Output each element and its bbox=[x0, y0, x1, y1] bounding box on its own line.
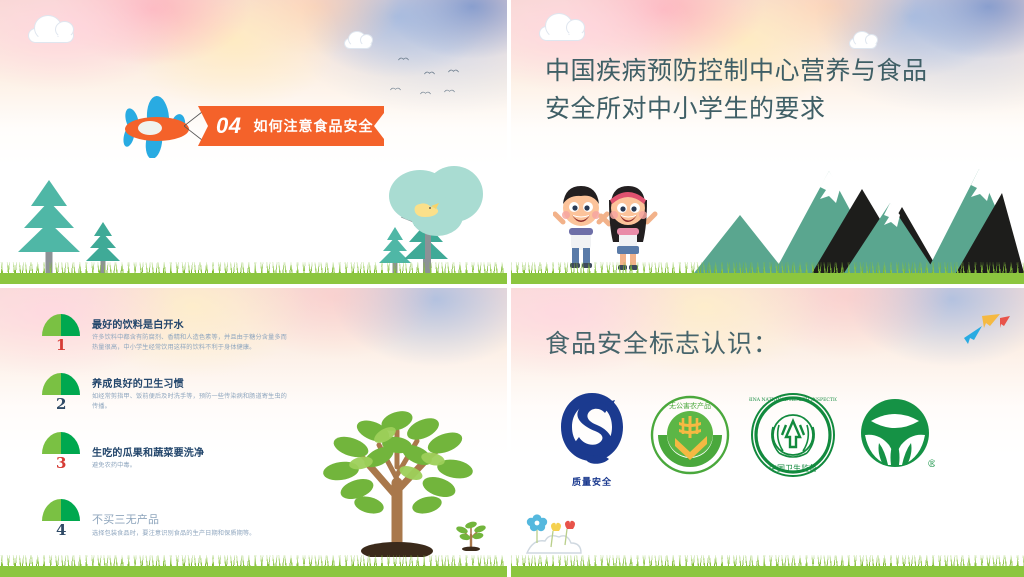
paper-plane-icon bbox=[948, 312, 1012, 352]
registered-trademark: ® bbox=[927, 459, 935, 470]
slide-thumbnail-grid: 04 如何注意食品安全 bbox=[0, 0, 1024, 577]
item-text: 养成良好的卫生习惯 如经常剪指甲、饭前便后及时洗手等，预防一些传染病和肠道寄生虫… bbox=[92, 373, 292, 411]
bird-icon bbox=[420, 90, 431, 96]
bird-icon bbox=[411, 200, 441, 220]
list-item[interactable]: 3 生吃的瓜果和蔬菜要洗净 避免农药中毒。 bbox=[42, 432, 292, 471]
bullet-wrapper: 2 bbox=[42, 373, 88, 411]
mountain-icon bbox=[694, 163, 1024, 273]
cloud-icon bbox=[28, 28, 74, 43]
page-title: 食品安全标志认识： bbox=[545, 324, 779, 360]
grass-icon bbox=[509, 262, 1024, 284]
cloud-icon bbox=[344, 38, 372, 49]
logo-outer-text: CHINA NATIONAL HEALTH INSPECTION bbox=[749, 397, 837, 403]
bird-icon bbox=[390, 86, 401, 92]
fan-bullet-icon bbox=[42, 432, 80, 454]
green-food-logo[interactable]: ® bbox=[855, 395, 935, 480]
item-heading: 生吃的瓜果和蔬菜要洗净 bbox=[92, 444, 292, 459]
grid-seam-horizontal bbox=[0, 286, 1024, 288]
list-item[interactable]: 2 养成良好的卫生习惯 如经常剪指甲、饭前便后及时洗手等，预防一些传染病和肠道寄… bbox=[42, 373, 292, 411]
fan-bullet-icon bbox=[42, 373, 80, 395]
heart-icon bbox=[565, 521, 575, 529]
section-banner[interactable]: 04 如何注意食品安全 bbox=[198, 106, 384, 146]
heart-icon bbox=[551, 523, 561, 531]
bird-icon bbox=[444, 88, 455, 94]
bird-icon bbox=[398, 56, 409, 62]
page-title: 中国疾病预防控制中心营养与食品 安全所对中小学生的要求 bbox=[545, 52, 1000, 127]
bird-icon bbox=[424, 70, 435, 76]
section-number: 04 bbox=[216, 113, 241, 139]
fan-bullet-icon bbox=[42, 499, 80, 521]
section-title: 如何注意食品安全 bbox=[253, 116, 373, 136]
qs-quality-safety-logo[interactable]: 质量安全 bbox=[553, 387, 631, 488]
sapling-icon bbox=[455, 517, 487, 551]
title-line-2: 安全所对中小学生的要求 bbox=[545, 90, 1000, 128]
title-line-1: 中国疾病预防控制中心营养与食品 bbox=[545, 52, 1000, 90]
bullet-wrapper: 4 bbox=[42, 499, 88, 539]
item-text: 不买三无产品 选择包装食品时，要注意识别食品的生产日期和保质期等。 bbox=[92, 499, 292, 539]
china-national-health-inspection-logo[interactable]: CHINA NATIONAL HEALTH INSPECTION 中国卫生监督 bbox=[749, 391, 837, 484]
item-body: 避免农药中毒。 bbox=[92, 461, 292, 471]
logo-row: 质量安全 无公害农产品 bbox=[553, 382, 1004, 492]
item-heading: 最好的饮料是白开水 bbox=[92, 316, 292, 331]
list-item[interactable]: 4 不买三无产品 选择包装食品时，要注意识别食品的生产日期和保质期等。 bbox=[42, 499, 292, 539]
item-index: 4 bbox=[56, 521, 66, 539]
item-body: 选择包装食品时，要注意识别食品的生产日期和保质期等。 bbox=[92, 529, 292, 539]
logo-caption: 中国卫生监督 bbox=[769, 463, 817, 473]
item-text: 生吃的瓜果和蔬菜要洗净 避免农药中毒。 bbox=[92, 432, 292, 471]
slide-1-section-divider[interactable]: 04 如何注意食品安全 bbox=[0, 0, 509, 286]
item-body: 许多饮料中都含有防腐剂、香精和人造色素等，并且由于糖分含量多而热量很高，中小学生… bbox=[92, 333, 292, 352]
slide-4-food-safety-marks[interactable]: 食品安全标志认识： 质量安全 bbox=[509, 286, 1024, 577]
item-index: 1 bbox=[56, 336, 66, 354]
round-tree-icon bbox=[383, 166, 493, 276]
pine-tree-icon bbox=[18, 168, 80, 274]
qs-caption: 质量安全 bbox=[553, 475, 631, 488]
svg-text:无公害农产品: 无公害农产品 bbox=[669, 401, 711, 410]
slide-3-four-point-list[interactable]: 1 最好的饮料是白开水 许多饮料中都含有防腐剂、香精和人造色素等，并且由于糖分含… bbox=[0, 286, 509, 577]
grid-seam-vertical bbox=[509, 0, 511, 577]
grass-icon bbox=[0, 262, 507, 284]
bullet-wrapper: 3 bbox=[42, 432, 88, 471]
item-heading: 不买三无产品 bbox=[92, 511, 292, 527]
grass-icon bbox=[0, 555, 507, 577]
cloud-icon bbox=[849, 38, 877, 49]
flower-icon bbox=[523, 491, 607, 561]
pollution-free-agricultural-product-logo[interactable]: 无公害农产品 bbox=[649, 394, 731, 481]
item-index: 3 bbox=[56, 454, 66, 472]
bullet-wrapper: 1 bbox=[42, 314, 88, 352]
cloud-icon bbox=[539, 26, 585, 41]
item-body: 如经常剪指甲、饭前便后及时洗手等，预防一些传染病和肠道寄生虫的传播。 bbox=[92, 392, 292, 411]
kids-icon bbox=[553, 178, 669, 270]
blue-flower-icon bbox=[527, 514, 547, 531]
slide-2-title[interactable]: 中国疾病预防控制中心营养与食品 安全所对中小学生的要求 bbox=[509, 0, 1024, 286]
item-text: 最好的饮料是白开水 许多饮料中都含有防腐剂、香精和人造色素等，并且由于糖分含量多… bbox=[92, 314, 292, 352]
list-item[interactable]: 1 最好的饮料是白开水 许多饮料中都含有防腐剂、香精和人造色素等，并且由于糖分含… bbox=[42, 314, 292, 352]
item-heading: 养成良好的卫生习惯 bbox=[92, 375, 292, 390]
fan-bullet-icon bbox=[42, 314, 80, 336]
banner-wire bbox=[184, 110, 204, 142]
item-index: 2 bbox=[56, 395, 66, 413]
points-list: 1 最好的饮料是白开水 许多饮料中都含有防腐剂、香精和人造色素等，并且由于糖分含… bbox=[42, 314, 292, 560]
bird-icon bbox=[448, 68, 459, 74]
grass-icon bbox=[509, 555, 1024, 577]
